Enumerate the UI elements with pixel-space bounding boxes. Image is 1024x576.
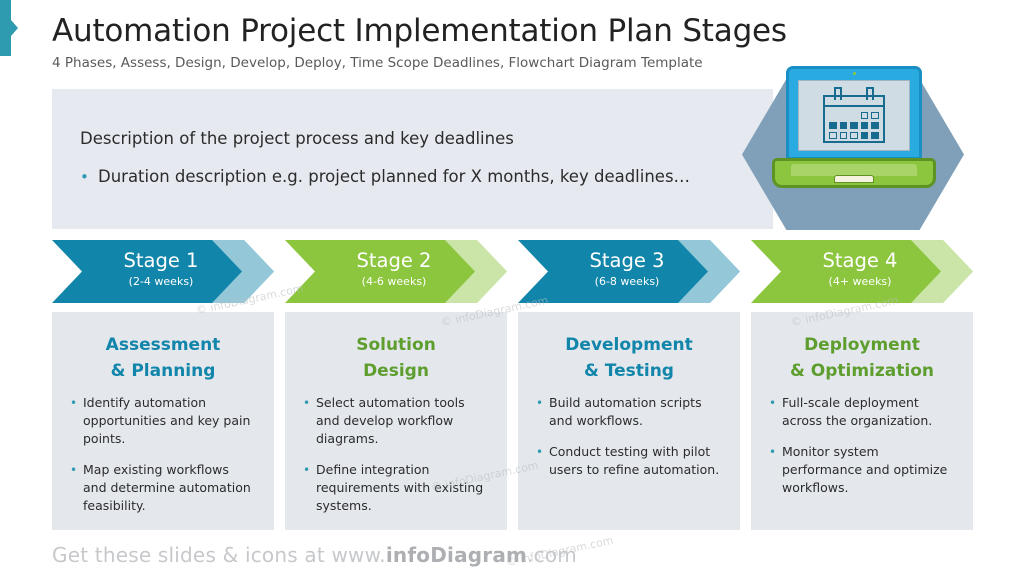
column-title: Deployment& Optimization xyxy=(769,332,955,384)
stage-detail-column-4: Deployment& Optimization•Full-scale depl… xyxy=(751,312,973,530)
column-title-line2: & Planning xyxy=(70,358,256,384)
calendar-row xyxy=(829,122,879,129)
bullet-marker-icon: • xyxy=(80,165,98,189)
calendar-day xyxy=(840,132,848,139)
bullet-marker-icon: • xyxy=(70,394,83,412)
left-accent-tab xyxy=(0,0,11,56)
stage-detail-columns: Assessment& Planning•Identify automation… xyxy=(52,312,972,530)
stage-arrow-label: Stage 4(4+ weeks) xyxy=(781,249,939,289)
column-bullet: •Map existing workflows and determine au… xyxy=(70,461,256,515)
stage-arrow-label: Stage 3(6-8 weeks) xyxy=(548,249,706,289)
bullet-marker-icon: • xyxy=(70,461,83,479)
calendar-day xyxy=(871,122,879,129)
bullet-marker-icon: • xyxy=(303,394,316,412)
calendar-icon xyxy=(823,87,885,143)
calendar-row xyxy=(829,112,879,119)
column-title-line1: Development xyxy=(565,335,692,355)
column-title: SolutionDesign xyxy=(303,332,489,384)
stage-detail-column-3: Development& Testing•Build automation sc… xyxy=(518,312,740,530)
stage-arrow-band: Stage 1(2-4 weeks)Stage 2(4-6 weeks)Stag… xyxy=(52,240,972,303)
column-bullet: •Conduct testing with pilot users to ref… xyxy=(536,443,722,479)
calendar-day xyxy=(861,132,869,139)
column-bullet-text: Monitor system performance and optimize … xyxy=(782,443,955,497)
column-bullet: •Identify automation opportunities and k… xyxy=(70,394,256,448)
description-content: Description of the project process and k… xyxy=(80,127,753,189)
page-title: Automation Project Implementation Plan S… xyxy=(52,12,952,50)
stage-duration: (2-4 weeks) xyxy=(82,274,240,289)
laptop-camera-icon xyxy=(853,72,856,75)
description-bullet-text: Duration description e.g. project planne… xyxy=(98,165,690,189)
column-bullet: •Full-scale deployment across the organi… xyxy=(769,394,955,430)
stage-arrow-label: Stage 1(2-4 weeks) xyxy=(82,249,240,289)
footer-brand: infoDiagram xyxy=(386,543,527,567)
column-bullet-text: Full-scale deployment across the organiz… xyxy=(782,394,955,430)
column-title-line2: & Optimization xyxy=(769,358,955,384)
left-accent-tab-point xyxy=(11,20,18,36)
stage-arrow-3[interactable]: Stage 3(6-8 weeks) xyxy=(518,240,740,303)
column-title-line1: Solution xyxy=(356,335,436,355)
column-title-line1: Assessment xyxy=(106,335,221,355)
bullet-marker-icon: • xyxy=(536,443,549,461)
footer-suffix: .com xyxy=(527,543,577,567)
bullet-marker-icon: • xyxy=(769,394,782,412)
laptop-base xyxy=(772,158,936,188)
laptop-lid xyxy=(786,66,922,160)
column-bullet-text: Map existing workflows and determine aut… xyxy=(83,461,256,515)
calendar-day xyxy=(829,132,837,139)
footer-link[interactable]: Get these slides & icons at www.infoDiag… xyxy=(52,543,577,567)
column-bullet: •Define integration requirements with ex… xyxy=(303,461,489,515)
calendar-day xyxy=(861,112,869,119)
stage-arrow-4[interactable]: Stage 4(4+ weeks) xyxy=(751,240,973,303)
calendar-day-grid xyxy=(829,112,879,142)
column-bullet-text: Build automation scripts and workflows. xyxy=(549,394,722,430)
stage-name: Stage 3 xyxy=(548,249,706,273)
calendar-day xyxy=(871,132,879,139)
column-title: Assessment& Planning xyxy=(70,332,256,384)
column-bullet-text: Conduct testing with pilot users to refi… xyxy=(549,443,722,479)
bullet-marker-icon: • xyxy=(769,443,782,461)
stage-arrow-2[interactable]: Stage 2(4-6 weeks) xyxy=(285,240,507,303)
stage-duration: (4+ weeks) xyxy=(781,274,939,289)
calendar-day xyxy=(850,122,858,129)
laptop-with-calendar-icon xyxy=(772,66,936,194)
description-band: Description of the project process and k… xyxy=(52,89,773,229)
stage-arrow-label: Stage 2(4-6 weeks) xyxy=(315,249,473,289)
calendar-day xyxy=(850,132,858,139)
column-title-line2: Design xyxy=(303,358,489,384)
calendar-day xyxy=(861,122,869,129)
description-bullet: • Duration description e.g. project plan… xyxy=(80,165,753,189)
description-heading: Description of the project process and k… xyxy=(80,127,753,151)
calendar-row xyxy=(829,132,879,139)
footer-prefix: Get these slides & icons at www. xyxy=(52,543,386,567)
calendar-day xyxy=(871,112,879,119)
laptop-screen xyxy=(798,80,910,151)
column-bullet-text: Define integration requirements with exi… xyxy=(316,461,489,515)
bullet-marker-icon: • xyxy=(303,461,316,479)
column-bullet: •Monitor system performance and optimize… xyxy=(769,443,955,497)
stage-name: Stage 1 xyxy=(82,249,240,273)
column-title-line1: Deployment xyxy=(804,335,920,355)
column-bullet-text: Identify automation opportunities and ke… xyxy=(83,394,256,448)
column-bullet: •Select automation tools and develop wor… xyxy=(303,394,489,448)
column-title: Development& Testing xyxy=(536,332,722,384)
column-bullet: •Build automation scripts and workflows. xyxy=(536,394,722,430)
bullet-marker-icon: • xyxy=(536,394,549,412)
stage-name: Stage 4 xyxy=(781,249,939,273)
column-bullet-text: Select automation tools and develop work… xyxy=(316,394,489,448)
stage-duration: (4-6 weeks) xyxy=(315,274,473,289)
stage-detail-column-1: Assessment& Planning•Identify automation… xyxy=(52,312,274,530)
stage-arrow-1[interactable]: Stage 1(2-4 weeks) xyxy=(52,240,274,303)
calendar-header-bar xyxy=(823,105,885,108)
stage-duration: (6-8 weeks) xyxy=(548,274,706,289)
calendar-day xyxy=(840,122,848,129)
header: Automation Project Implementation Plan S… xyxy=(52,12,952,72)
calendar-day xyxy=(829,122,837,129)
stage-detail-column-2: SolutionDesign•Select automation tools a… xyxy=(285,312,507,530)
column-title-line2: & Testing xyxy=(536,358,722,384)
laptop-touchpad xyxy=(834,175,874,183)
stage-name: Stage 2 xyxy=(315,249,473,273)
